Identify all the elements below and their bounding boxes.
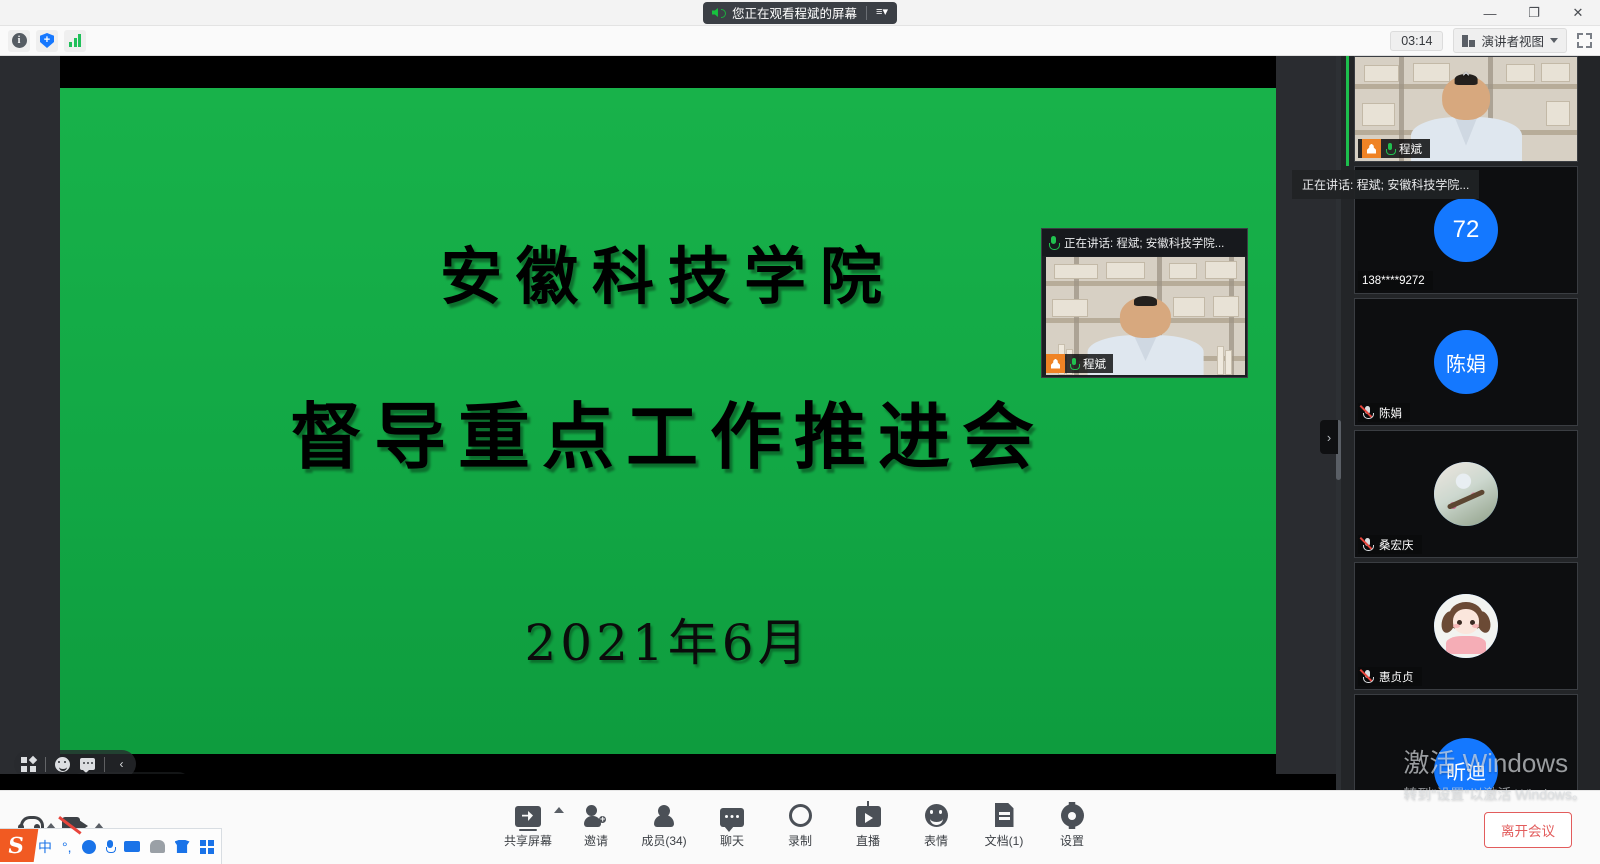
hamburger-icon[interactable]: ≡▾ bbox=[876, 7, 888, 18]
emoji-label: 表情 bbox=[924, 832, 948, 849]
collapse-left-icon[interactable]: ‹ bbox=[113, 756, 130, 773]
participant-name: 程斌 bbox=[1399, 141, 1422, 157]
host-icon bbox=[1046, 354, 1065, 373]
live-icon bbox=[856, 801, 881, 827]
ime-punctuation[interactable]: °, bbox=[62, 839, 72, 855]
document-button[interactable]: 文档(1) bbox=[970, 797, 1038, 849]
watermark-line2: 转到"设置"以激活 Windows。 bbox=[1403, 784, 1586, 804]
network-status-button[interactable] bbox=[64, 30, 86, 52]
speaking-indicator-bar bbox=[1346, 56, 1349, 166]
chat-button[interactable]: 聊天 bbox=[698, 797, 766, 849]
pip-speaking-label: 正在讲话: 程斌; 安徽科技学院... bbox=[1064, 235, 1224, 251]
watermark-line1: 激活 Windows bbox=[1403, 743, 1586, 780]
screen-share-notice: 您正在观看程斌的屏幕 ≡▾ bbox=[703, 2, 897, 24]
screen-share-icon bbox=[515, 801, 541, 827]
invite-button[interactable]: 邀请 bbox=[562, 797, 630, 849]
avatar bbox=[1434, 594, 1498, 658]
record-icon bbox=[789, 801, 812, 827]
participant-tile[interactable]: 惠贞贞 bbox=[1354, 562, 1578, 690]
members-icon bbox=[652, 801, 676, 827]
settings-button[interactable]: 设置 bbox=[1038, 797, 1106, 849]
view-mode-label: 演讲者视图 bbox=[1481, 31, 1544, 50]
mic-muted-icon bbox=[1362, 670, 1374, 683]
window-title-bar: 您正在观看程斌的屏幕 ≡▾ — ❐ ✕ bbox=[0, 0, 1600, 26]
chevron-down-icon bbox=[1550, 38, 1558, 43]
speaker-green-icon bbox=[712, 7, 725, 18]
shield-icon bbox=[40, 33, 54, 48]
windows-activation-watermark: 激活 Windows 转到"设置"以激活 Windows。 bbox=[1403, 743, 1586, 804]
mic-on-small-icon bbox=[1070, 358, 1078, 369]
participant-tile[interactable]: ⌃ 程斌 bbox=[1354, 56, 1578, 162]
participant-name: 惠贞贞 bbox=[1379, 669, 1414, 685]
layout-icon bbox=[1462, 35, 1475, 47]
chat-label: 聊天 bbox=[720, 832, 744, 849]
participant-name: 陈娟 bbox=[1379, 405, 1402, 421]
slide-date: 2021年6月 bbox=[524, 603, 811, 675]
live-label: 直播 bbox=[856, 832, 880, 849]
document-label: 文档(1) bbox=[985, 832, 1024, 849]
live-button[interactable]: 直播 bbox=[834, 797, 902, 849]
meeting-timer: 03:14 bbox=[1390, 31, 1443, 51]
emoji-button[interactable]: 表情 bbox=[902, 797, 970, 849]
ime-toolbar[interactable]: S 中 °, bbox=[0, 828, 222, 864]
stage-bottom-strip bbox=[0, 774, 1338, 790]
speaking-tooltip: 正在讲话: 程斌; 安徽科技学院... bbox=[1292, 170, 1479, 199]
participant-list[interactable]: ⌃ 程斌 72 138****9272 陈娟 陈娟 bbox=[1350, 56, 1600, 790]
ime-user-icon[interactable] bbox=[150, 840, 165, 853]
mic-on-icon bbox=[1386, 143, 1394, 154]
shared-screen-area[interactable]: 安徽科技学院 督导重点工作推进会 2021年6月 bbox=[60, 56, 1276, 784]
grid-icon[interactable] bbox=[20, 756, 37, 773]
meeting-controls: 共享屏幕 邀请 成员(34) 聊天 录制 直播 表情 文档(1) bbox=[494, 797, 1106, 849]
scroll-up-chevron-icon[interactable]: ⌃ bbox=[1460, 69, 1473, 87]
pip-name-tag: 程斌 bbox=[1046, 354, 1113, 373]
pip-name-label: 程斌 bbox=[1083, 356, 1106, 372]
participant-name: 桑宏庆 bbox=[1379, 537, 1414, 553]
slide-title-line1: 安徽科技学院 bbox=[440, 226, 896, 316]
settings-icon bbox=[1061, 801, 1084, 827]
avatar-photo bbox=[1434, 594, 1498, 658]
avatar-photo bbox=[1434, 462, 1498, 526]
presentation-slide: 安徽科技学院 督导重点工作推进会 2021年6月 bbox=[60, 88, 1276, 754]
chat-icon[interactable] bbox=[79, 756, 96, 773]
emoji-icon bbox=[925, 801, 948, 827]
members-button[interactable]: 成员(34) bbox=[630, 797, 698, 849]
participant-name-tag: 程斌 bbox=[1358, 139, 1430, 158]
invite-icon bbox=[584, 801, 608, 827]
pip-header: 正在讲话: 程斌; 安徽科技学院... bbox=[1042, 229, 1247, 256]
host-icon bbox=[1362, 139, 1381, 158]
sogou-logo-icon[interactable]: S bbox=[0, 829, 38, 862]
toolbar-right-group: 03:14 演讲者视图 bbox=[1390, 28, 1592, 53]
view-mode-selector[interactable]: 演讲者视图 bbox=[1453, 28, 1567, 53]
chat-icon bbox=[720, 801, 744, 827]
avatar: 陈娟 bbox=[1434, 330, 1498, 394]
mic-muted-icon bbox=[1362, 538, 1374, 551]
participant-name-tag: 桑宏庆 bbox=[1358, 535, 1422, 554]
participant-rail: ⌃ 程斌 72 138****9272 陈娟 陈娟 bbox=[1338, 56, 1600, 790]
floating-speaker-video[interactable]: 正在讲话: 程斌; 安徽科技学院... bbox=[1041, 228, 1248, 378]
collapse-rail-button[interactable]: › bbox=[1320, 420, 1338, 454]
participant-tile[interactable]: 桑宏庆 bbox=[1354, 430, 1578, 558]
slide-title-line2: 督导重点工作推进会 bbox=[290, 378, 1046, 483]
mic-muted-icon bbox=[1362, 406, 1374, 419]
settings-label: 设置 bbox=[1060, 832, 1084, 849]
divider bbox=[104, 757, 105, 772]
meeting-bottom-bar: 共享屏幕 邀请 成员(34) 聊天 录制 直播 表情 文档(1) bbox=[0, 790, 1600, 864]
ime-emoji-icon[interactable] bbox=[82, 840, 96, 854]
participant-name-tag: 惠贞贞 bbox=[1358, 667, 1422, 686]
leave-meeting-button[interactable]: 离开会议 bbox=[1484, 812, 1572, 848]
avatar: 72 bbox=[1434, 198, 1498, 262]
participant-tile[interactable]: 陈娟 陈娟 bbox=[1354, 298, 1578, 426]
ime-toolbox-icon[interactable] bbox=[200, 840, 214, 854]
restore-button[interactable]: ❐ bbox=[1512, 0, 1556, 26]
minimize-button[interactable]: — bbox=[1468, 0, 1512, 26]
info-button[interactable]: i bbox=[8, 30, 30, 52]
smiley-icon[interactable] bbox=[54, 756, 71, 773]
ime-voice-icon[interactable] bbox=[106, 840, 114, 853]
info-icon: i bbox=[12, 33, 27, 48]
window-controls: — ❐ ✕ bbox=[1468, 0, 1600, 26]
share-screen-label: 共享屏幕 bbox=[504, 832, 552, 849]
secondary-toolbar: i 03:14 演讲者视图 bbox=[0, 26, 1600, 56]
participant-name: 138****9272 bbox=[1362, 275, 1425, 287]
ime-keyboard-icon[interactable] bbox=[124, 841, 140, 852]
ime-mode-chinese[interactable]: 中 bbox=[38, 837, 52, 857]
signal-bars-icon bbox=[69, 34, 81, 47]
divider bbox=[866, 6, 867, 20]
security-button[interactable] bbox=[36, 30, 58, 52]
record-label: 录制 bbox=[788, 832, 812, 849]
mic-on-icon bbox=[1049, 236, 1058, 249]
ime-skin-icon[interactable] bbox=[175, 840, 190, 853]
document-icon bbox=[995, 801, 1014, 827]
meeting-stage: 安徽科技学院 督导重点工作推进会 2021年6月 正在讲话: 程斌; 安徽科技学… bbox=[0, 56, 1338, 790]
participant-name-tag: 138****9272 bbox=[1358, 271, 1433, 290]
members-label: 成员(34) bbox=[641, 832, 686, 849]
participant-name-tag: 陈娟 bbox=[1358, 403, 1410, 422]
divider bbox=[45, 757, 46, 772]
close-button[interactable]: ✕ bbox=[1556, 0, 1600, 26]
share-screen-button[interactable]: 共享屏幕 bbox=[494, 797, 562, 849]
fullscreen-icon[interactable] bbox=[1577, 33, 1592, 48]
avatar bbox=[1434, 462, 1498, 526]
invite-label: 邀请 bbox=[584, 832, 608, 849]
share-notice-text: 您正在观看程斌的屏幕 bbox=[732, 3, 857, 22]
record-button[interactable]: 录制 bbox=[766, 797, 834, 849]
